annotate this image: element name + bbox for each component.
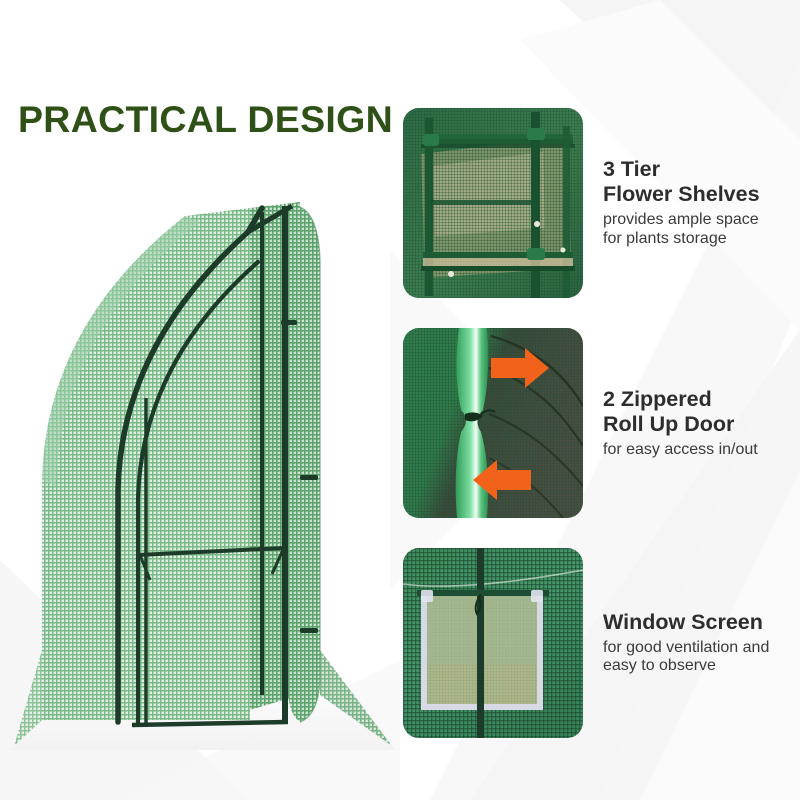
rollup-door-photo: [403, 328, 583, 518]
feature-flower-shelves: 3 Tier Flower Shelves provides ample spa…: [403, 108, 800, 298]
greenhouse-rolled-flap: [288, 206, 320, 722]
feature-subtitle-flower-shelves: provides ample space for plants storage: [603, 211, 800, 249]
feature-subtitle-roll-up-door: for easy access in/out: [603, 441, 800, 460]
feature-title-line2: Flower Shelves: [603, 182, 800, 207]
hero-product-image: [0, 150, 400, 770]
infographic-page: PRACTICAL DESIGN: [0, 0, 800, 800]
feature-sub-line2: for plants storage: [603, 230, 800, 249]
shelves-photo: [403, 108, 583, 298]
feature-sub-line1: for easy access in/out: [603, 441, 800, 460]
feature-title-line2: Roll Up Door: [603, 412, 800, 437]
feature-sub-line1: provides ample space: [603, 211, 800, 230]
feature-title-window-screen: Window Screen: [603, 610, 800, 635]
feature-roll-up-door: 2 Zippered Roll Up Door for easy access …: [403, 328, 800, 518]
thumbnail-roll-up-door[interactable]: [403, 328, 583, 518]
feature-title-line1: Window Screen: [603, 610, 800, 635]
frame-bottom-rail: [132, 722, 288, 725]
feature-title-line1: 3 Tier: [603, 157, 800, 182]
thumbnail-flower-shelves[interactable]: [403, 108, 583, 298]
window-screen-photo: [403, 548, 583, 738]
feature-title-flower-shelves: 3 Tier Flower Shelves: [603, 157, 800, 207]
feature-text-flower-shelves: 3 Tier Flower Shelves provides ample spa…: [583, 157, 800, 249]
thumbnail-window-screen[interactable]: [403, 548, 583, 738]
page-title: PRACTICAL DESIGN: [18, 101, 393, 139]
feature-subtitle-window-screen: for good ventilation and easy to observe: [603, 639, 800, 677]
feature-title-roll-up-door: 2 Zippered Roll Up Door: [603, 387, 800, 437]
feature-sub-line1: for good ventilation and: [603, 639, 800, 658]
feature-sub-line2: easy to observe: [603, 657, 800, 676]
feature-text-window-screen: Window Screen for good ventilation and e…: [583, 610, 800, 677]
feature-text-roll-up-door: 2 Zippered Roll Up Door for easy access …: [583, 387, 800, 460]
feature-title-line1: 2 Zippered: [603, 387, 800, 412]
greenhouse-illustration: [0, 150, 400, 770]
feature-window-screen: Window Screen for good ventilation and e…: [403, 548, 800, 738]
